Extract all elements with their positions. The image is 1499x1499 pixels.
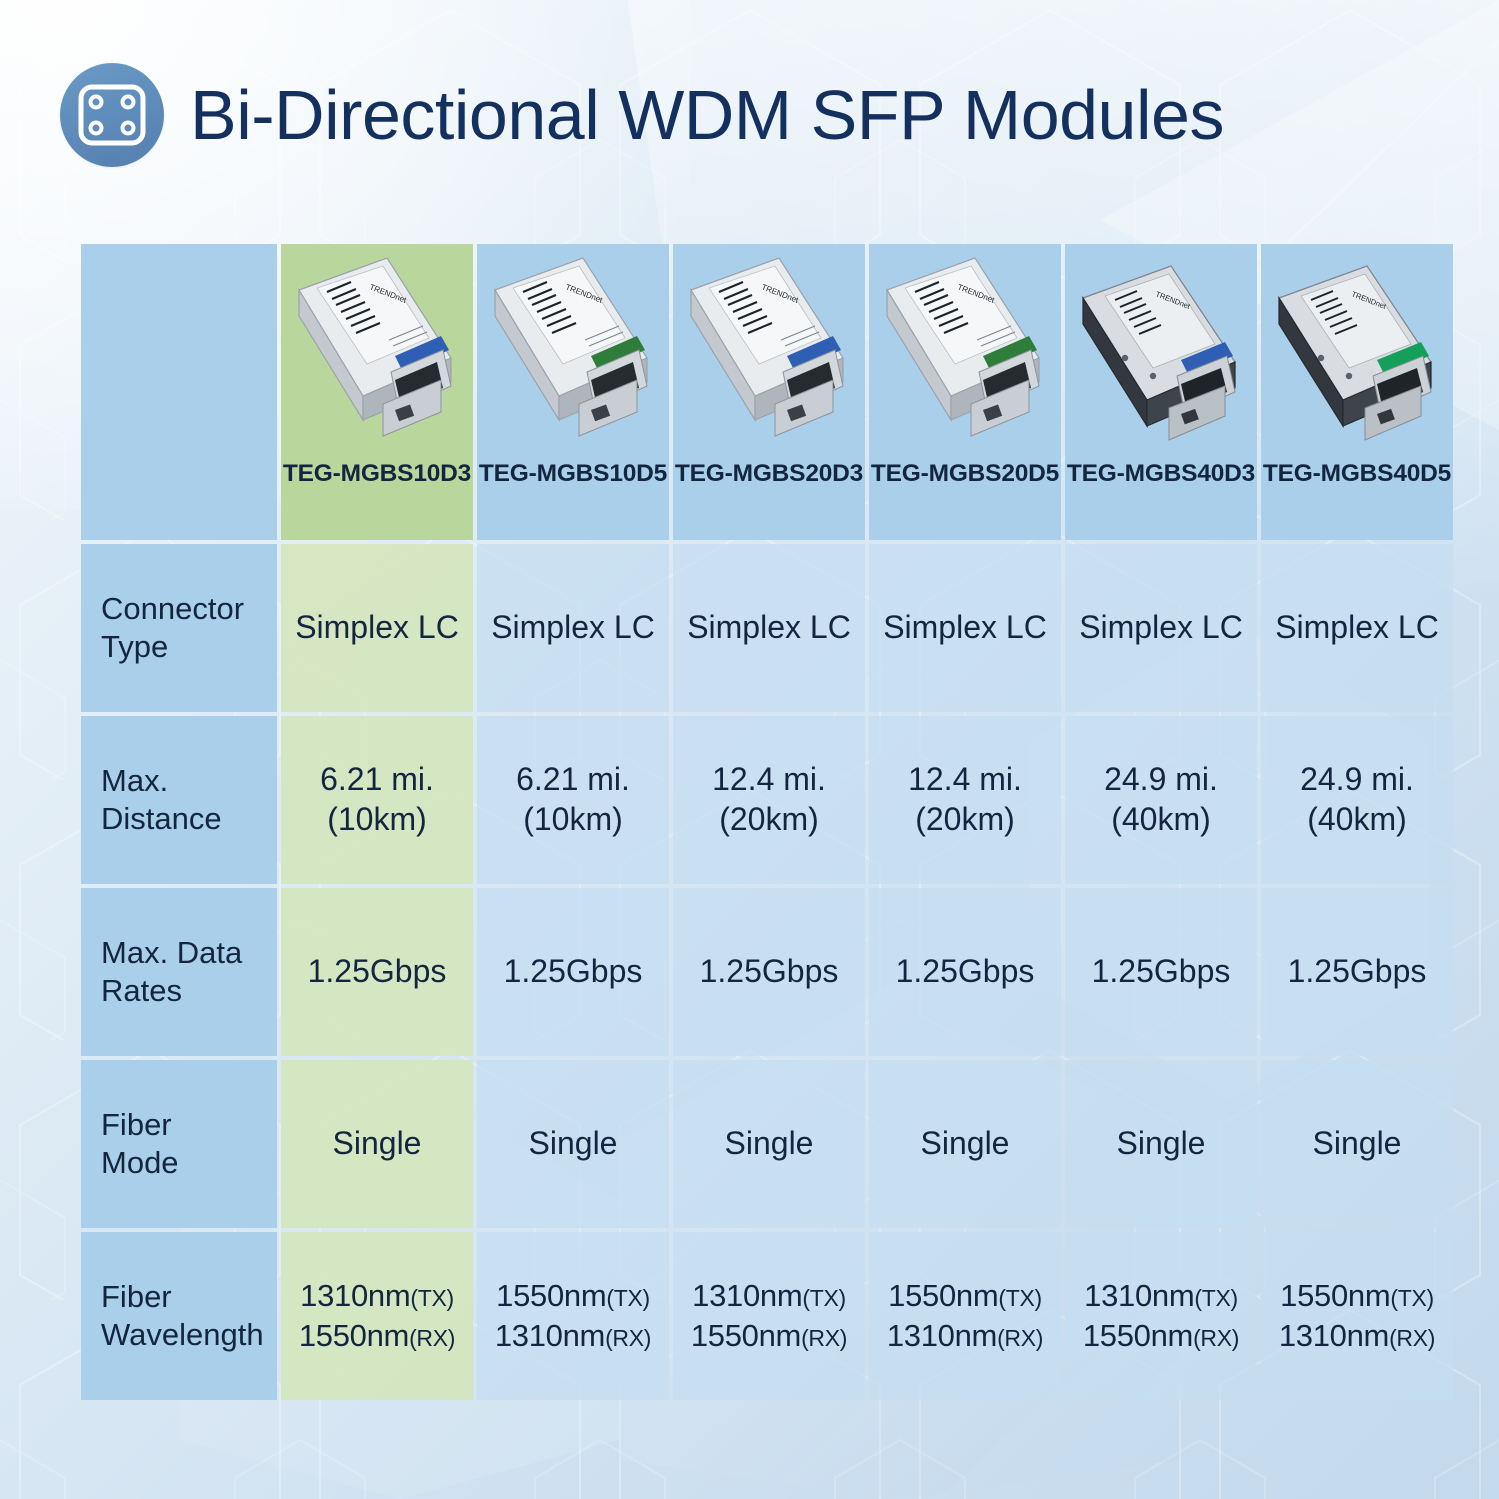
wavelength-rx: 1550nm(RX) [1083,1318,1239,1353]
cell-wavelength-5: 1550nm(TX) 1310nm(RX) [1261,1232,1453,1400]
distance-miles: 24.9 mi. [1065,760,1257,800]
wavelength-tx-value: 1550nm [496,1278,606,1313]
page-title: Bi-Directional WDM SFP Modules [190,80,1224,150]
wavelength-rx-value: 1310nm [1279,1318,1389,1353]
sfp-module-image-3: TRENDnet [872,244,1058,466]
product-column-4[interactable]: TRENDnet T [1065,244,1257,540]
row-label-connector-type: Connector Type [81,544,277,712]
wavelength-rx-value: 1550nm [299,1318,409,1353]
cell-distance-4: 24.9 mi. (40km) [1065,716,1257,884]
wavelength-rx-value: 1550nm [1083,1318,1193,1353]
distance-miles: 12.4 mi. [673,760,865,800]
distance-km: (20km) [869,800,1061,840]
wavelength-tx: 1550nm(TX) [888,1278,1042,1313]
wavelength-rx-value: 1310nm [887,1318,997,1353]
table-row-max-distance: Max. Distance 6.21 mi. (10km) 6.21 mi. (… [81,716,1453,884]
row-label-fiber-wavelength: Fiber Wavelength [81,1232,277,1400]
row-label-line-2: Wavelength [101,1316,277,1354]
table-row-fiber-mode: Fiber Mode Single Single Single Single S… [81,1060,1453,1228]
row-label-line-2: Distance [101,800,277,838]
page-header: Bi-Directional WDM SFP Modules [60,55,1460,175]
cell-wavelength-4: 1310nm(TX) 1550nm(RX) [1065,1232,1257,1400]
cell-connector-1: Simplex LC [477,544,669,712]
cell-mode-1: Single [477,1060,669,1228]
cell-rate-3: 1.25Gbps [869,888,1061,1056]
row-label-line-2: Mode [101,1144,277,1182]
distance-miles: 24.9 mi. [1261,760,1453,800]
wavelength-rx: 1550nm(RX) [691,1318,847,1353]
sfp-module-image-1: TRENDnet [480,244,666,466]
product-column-3[interactable]: TRENDnet [869,244,1061,540]
corner-cell [81,244,277,540]
wavelength-tx: 1310nm(TX) [1084,1278,1238,1313]
wavelength-tx: 1310nm(TX) [692,1278,846,1313]
wavelength-rx-value: 1310nm [495,1318,605,1353]
product-name-5: TEG-MGBS40D5 [1263,460,1451,488]
table-row-fiber-wavelength: Fiber Wavelength 1310nm(TX) 1550nm(RX) 1… [81,1232,1453,1400]
product-name-4: TEG-MGBS40D3 [1067,460,1255,488]
product-column-5[interactable]: TRENDnet T [1261,244,1453,540]
table-row-connector-type: Connector Type Simplex LC Simplex LC Sim… [81,544,1453,712]
product-column-1[interactable]: TRENDnet [477,244,669,540]
cell-wavelength-1: 1550nm(TX) 1310nm(RX) [477,1232,669,1400]
distance-km: (10km) [281,800,473,840]
row-label-line-1: Fiber [101,1278,277,1316]
cell-connector-0: Simplex LC [281,544,473,712]
wavelength-rx: 1310nm(RX) [887,1318,1043,1353]
distance-miles: 6.21 mi. [477,760,669,800]
cell-connector-2: Simplex LC [673,544,865,712]
cell-mode-3: Single [869,1060,1061,1228]
wavelength-rx-label: (RX) [1193,1325,1239,1351]
wavelength-rx-value: 1550nm [691,1318,801,1353]
cell-rate-1: 1.25Gbps [477,888,669,1056]
product-comparison-page: Bi-Directional WDM SFP Modules [0,0,1499,1499]
distance-km: (40km) [1261,800,1453,840]
distance-km: (40km) [1065,800,1257,840]
cell-distance-2: 12.4 mi. (20km) [673,716,865,884]
product-name-1: TEG-MGBS10D5 [479,460,667,488]
wavelength-rx-label: (RX) [605,1325,651,1351]
distance-miles: 6.21 mi. [281,760,473,800]
wavelength-tx-value: 1310nm [300,1278,410,1313]
cell-wavelength-3: 1550nm(TX) 1310nm(RX) [869,1232,1061,1400]
row-label-line-2: Type [101,628,277,666]
wavelength-rx-label: (RX) [1389,1325,1435,1351]
row-label-line-2: Rates [101,972,277,1010]
distance-km: (10km) [477,800,669,840]
distance-miles: 12.4 mi. [869,760,1061,800]
row-label-max-distance: Max. Distance [81,716,277,884]
wavelength-tx-label: (TX) [998,1285,1042,1311]
cell-mode-5: Single [1261,1060,1453,1228]
cell-mode-2: Single [673,1060,865,1228]
cell-connector-5: Simplex LC [1261,544,1453,712]
cell-connector-3: Simplex LC [869,544,1061,712]
wavelength-rx-label: (RX) [801,1325,847,1351]
row-label-line-1: Max. [101,762,277,800]
cell-connector-4: Simplex LC [1065,544,1257,712]
product-column-0[interactable]: TRENDnet [281,244,473,540]
product-name-3: TEG-MGBS20D5 [871,460,1059,488]
sfp-module-image-5: TRENDnet [1264,244,1450,466]
wavelength-tx: 1550nm(TX) [496,1278,650,1313]
row-label-line-1: Connector [101,590,277,628]
table-row-max-data-rates: Max. Data Rates 1.25Gbps 1.25Gbps 1.25Gb… [81,888,1453,1056]
product-name-2: TEG-MGBS20D3 [675,460,863,488]
wavelength-tx: 1550nm(TX) [1280,1278,1434,1313]
cell-rate-4: 1.25Gbps [1065,888,1257,1056]
table-row-products: TRENDnet [81,244,1453,540]
cell-rate-0: 1.25Gbps [281,888,473,1056]
cell-distance-1: 6.21 mi. (10km) [477,716,669,884]
cell-distance-0: 6.21 mi. (10km) [281,716,473,884]
row-label-fiber-mode: Fiber Mode [81,1060,277,1228]
wavelength-tx: 1310nm(TX) [300,1278,454,1313]
wavelength-rx-label: (RX) [409,1325,455,1351]
cell-rate-5: 1.25Gbps [1261,888,1453,1056]
wavelength-rx: 1310nm(RX) [1279,1318,1435,1353]
wavelength-tx-value: 1310nm [692,1278,802,1313]
wavelength-tx-label: (TX) [410,1285,454,1311]
row-label-line-1: Fiber [101,1106,277,1144]
wavelength-tx-label: (TX) [802,1285,846,1311]
product-column-2[interactable]: TRENDnet [673,244,865,540]
cell-rate-2: 1.25Gbps [673,888,865,1056]
wavelength-rx: 1310nm(RX) [495,1318,651,1353]
wavelength-tx-value: 1310nm [1084,1278,1194,1313]
row-label-line-1: Max. Data [101,934,277,972]
cell-distance-3: 12.4 mi. (20km) [869,716,1061,884]
cell-mode-0: Single [281,1060,473,1228]
sfp-module-image-2: TRENDnet [676,244,862,466]
wavelength-rx-label: (RX) [997,1325,1043,1351]
cell-distance-5: 24.9 mi. (40km) [1261,716,1453,884]
wavelength-tx-value: 1550nm [888,1278,998,1313]
cell-mode-4: Single [1065,1060,1257,1228]
sfp-module-image-0: TRENDnet [284,244,470,466]
cell-wavelength-0: 1310nm(TX) 1550nm(RX) [281,1232,473,1400]
sfp-module-faceplate-icon [60,63,164,167]
product-name-0: TEG-MGBS10D3 [283,460,471,488]
wavelength-tx-value: 1550nm [1280,1278,1390,1313]
cell-wavelength-2: 1310nm(TX) 1550nm(RX) [673,1232,865,1400]
wavelength-tx-label: (TX) [606,1285,650,1311]
wavelength-rx: 1550nm(RX) [299,1318,455,1353]
wavelength-tx-label: (TX) [1194,1285,1238,1311]
wavelength-tx-label: (TX) [1390,1285,1434,1311]
sfp-module-image-4: TRENDnet [1068,244,1254,466]
spec-comparison-table: TRENDnet [77,240,1457,1404]
row-label-max-data-rates: Max. Data Rates [81,888,277,1056]
distance-km: (20km) [673,800,865,840]
